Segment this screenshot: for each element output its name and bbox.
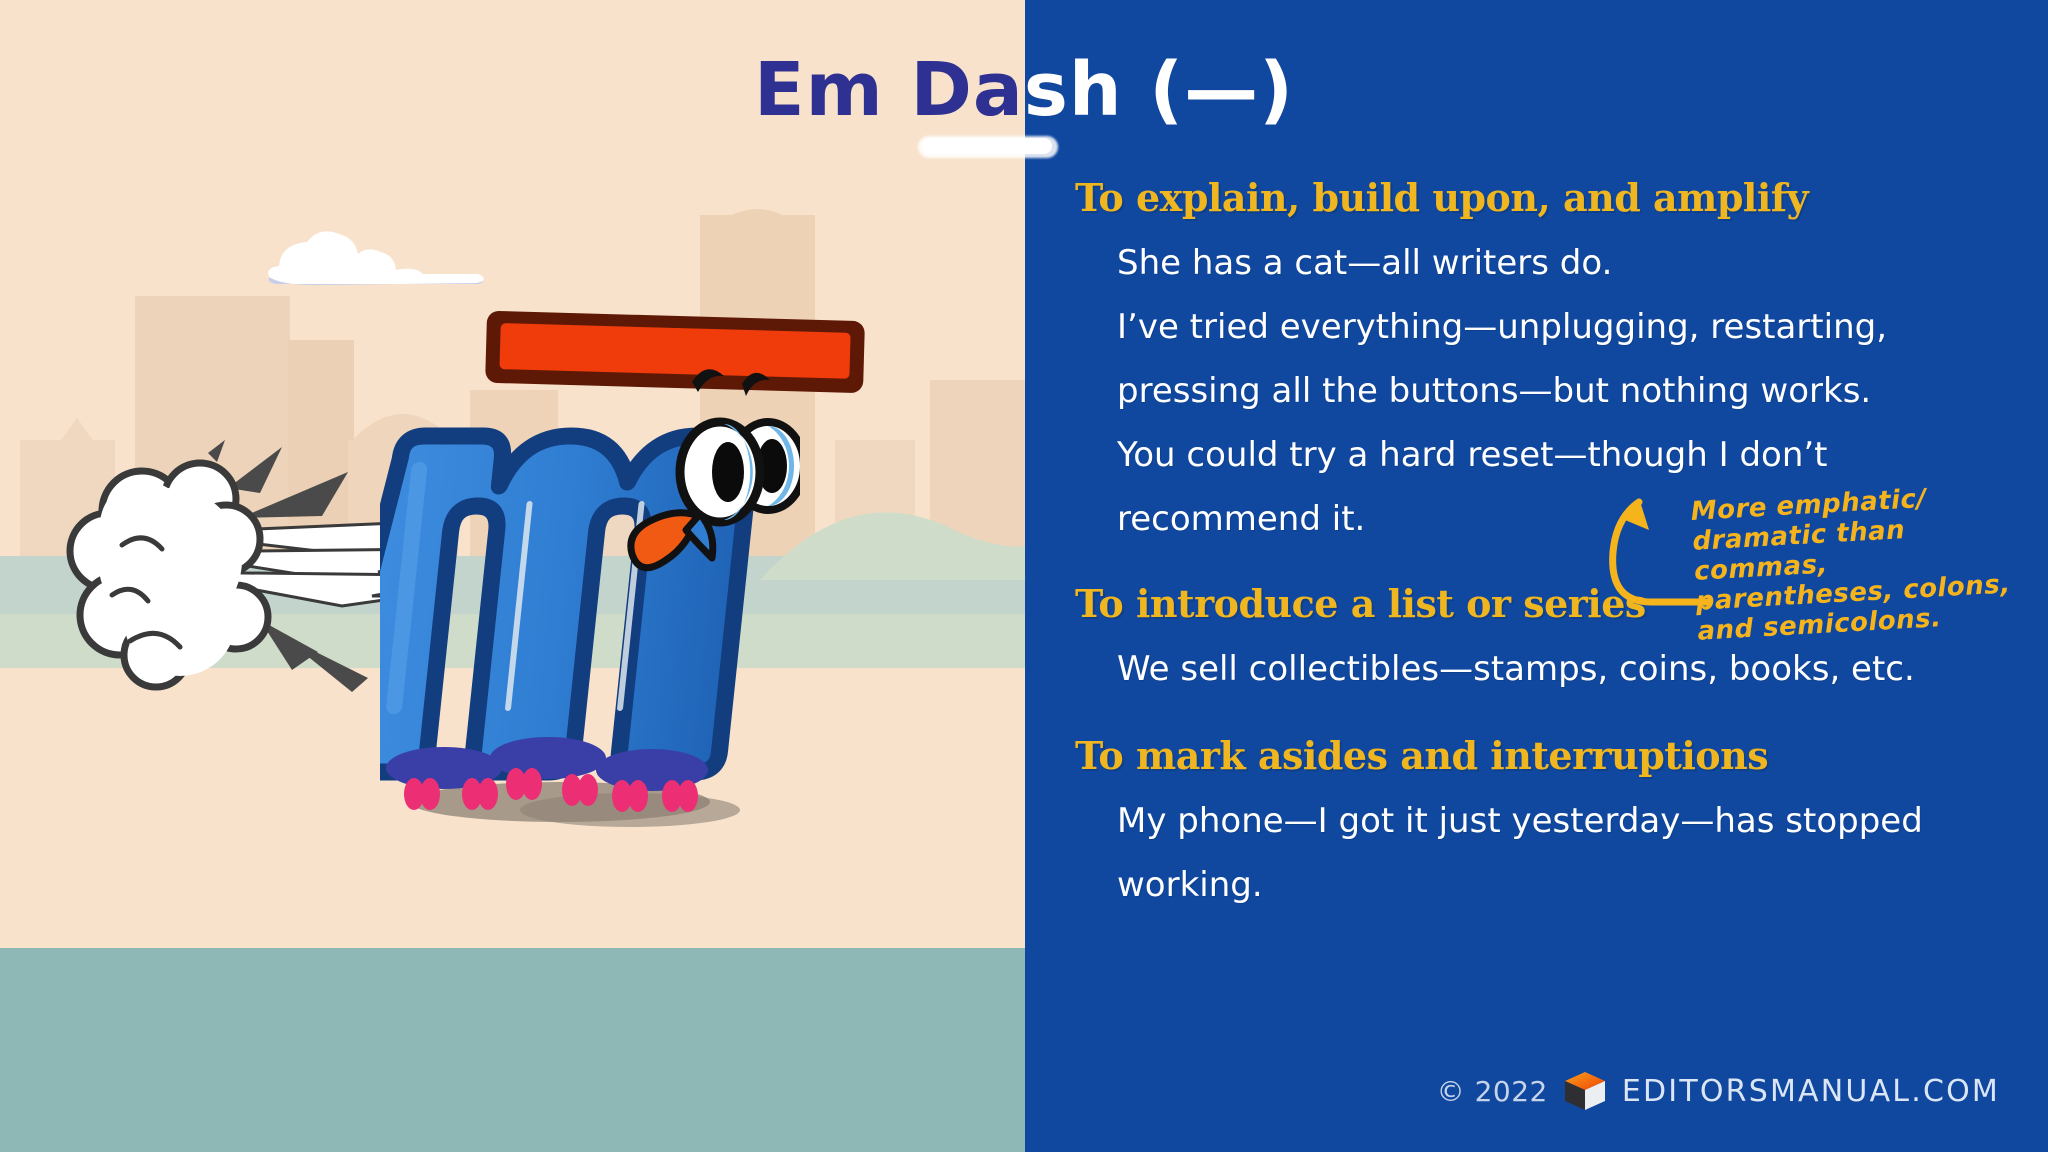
section-heading: To mark asides and interruptions (1075, 733, 2005, 779)
cube-logo-icon (1562, 1068, 1608, 1114)
illustration-panel (0, 0, 1025, 1152)
example-text: She has a cat—all writers do. (1117, 231, 1997, 295)
annotation-note: More emphatic/ dramatic than commas, par… (1690, 478, 2038, 647)
footer: © 2022 EDITORSMANUAL.COM (0, 1068, 2048, 1114)
brand-name: EDITORSMANUAL.COM (1622, 1074, 2000, 1109)
copyright-text: © 2022 (1437, 1075, 1548, 1108)
cloud-icon (263, 228, 495, 288)
usage-block-asides: To mark asides and interruptions My phon… (1075, 733, 2005, 917)
teal-footer-band (0, 948, 1025, 1152)
section-heading: To explain, build upon, and amplify (1075, 175, 2005, 221)
title-underline (922, 138, 1052, 154)
example-text: I’ve tried everything—unplugging, restar… (1117, 295, 1997, 423)
letter-m-mascot (380, 290, 800, 850)
eyes (680, 369, 800, 522)
example-text: My phone—I got it just yesterday—has sto… (1117, 789, 1997, 917)
example-text: We sell collectibles—stamps, coins, book… (1117, 637, 1997, 701)
dust-puff (60, 455, 350, 695)
slide-canvas: Em Dash (—) Em Dash (—) To explain, buil… (0, 0, 2048, 1152)
